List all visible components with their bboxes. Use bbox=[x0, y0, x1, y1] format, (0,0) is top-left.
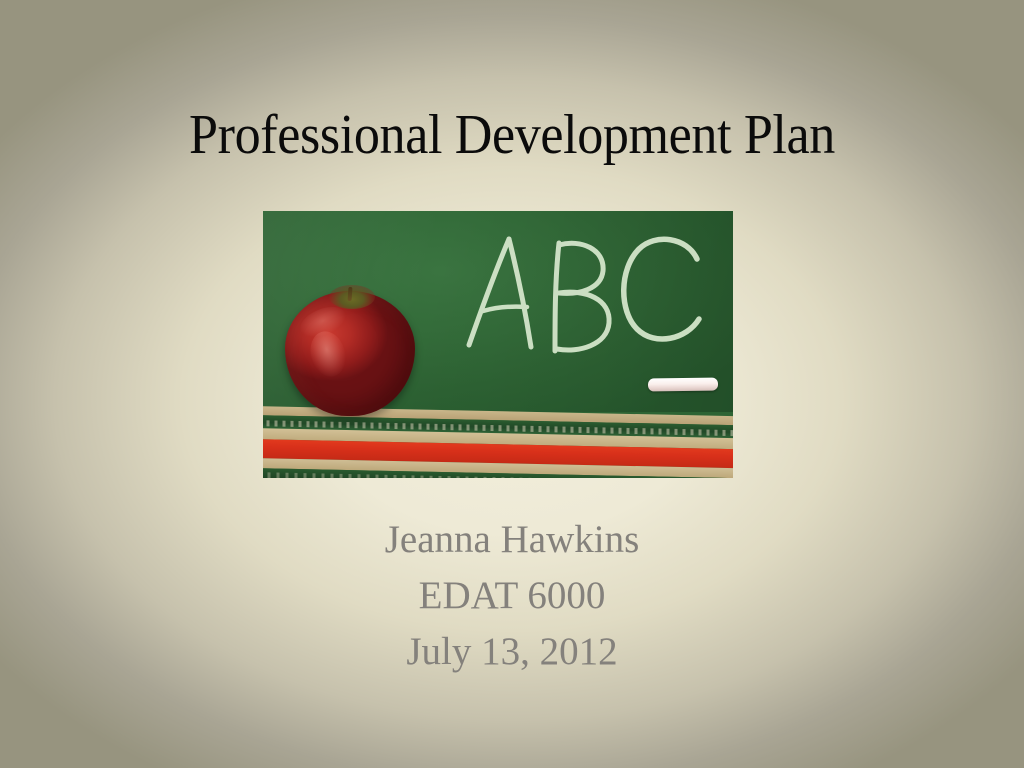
chalk-stick-icon bbox=[648, 378, 718, 392]
subtitle-line-date: July 13, 2012 bbox=[0, 624, 1024, 680]
slide-title: Professional Development Plan bbox=[36, 104, 988, 166]
apple-icon bbox=[285, 285, 415, 416]
slide-subtitle: Jeanna Hawkins EDAT 6000 July 13, 2012 bbox=[0, 512, 1024, 680]
subtitle-line-course: EDAT 6000 bbox=[0, 568, 1024, 624]
chalkboard-ledge bbox=[263, 406, 733, 478]
slide-image-apple-chalkboard[interactable] bbox=[263, 211, 733, 478]
apple-body bbox=[285, 291, 415, 416]
presentation-slide: Professional Development Plan bbox=[0, 0, 1024, 768]
subtitle-line-author: Jeanna Hawkins bbox=[0, 512, 1024, 568]
